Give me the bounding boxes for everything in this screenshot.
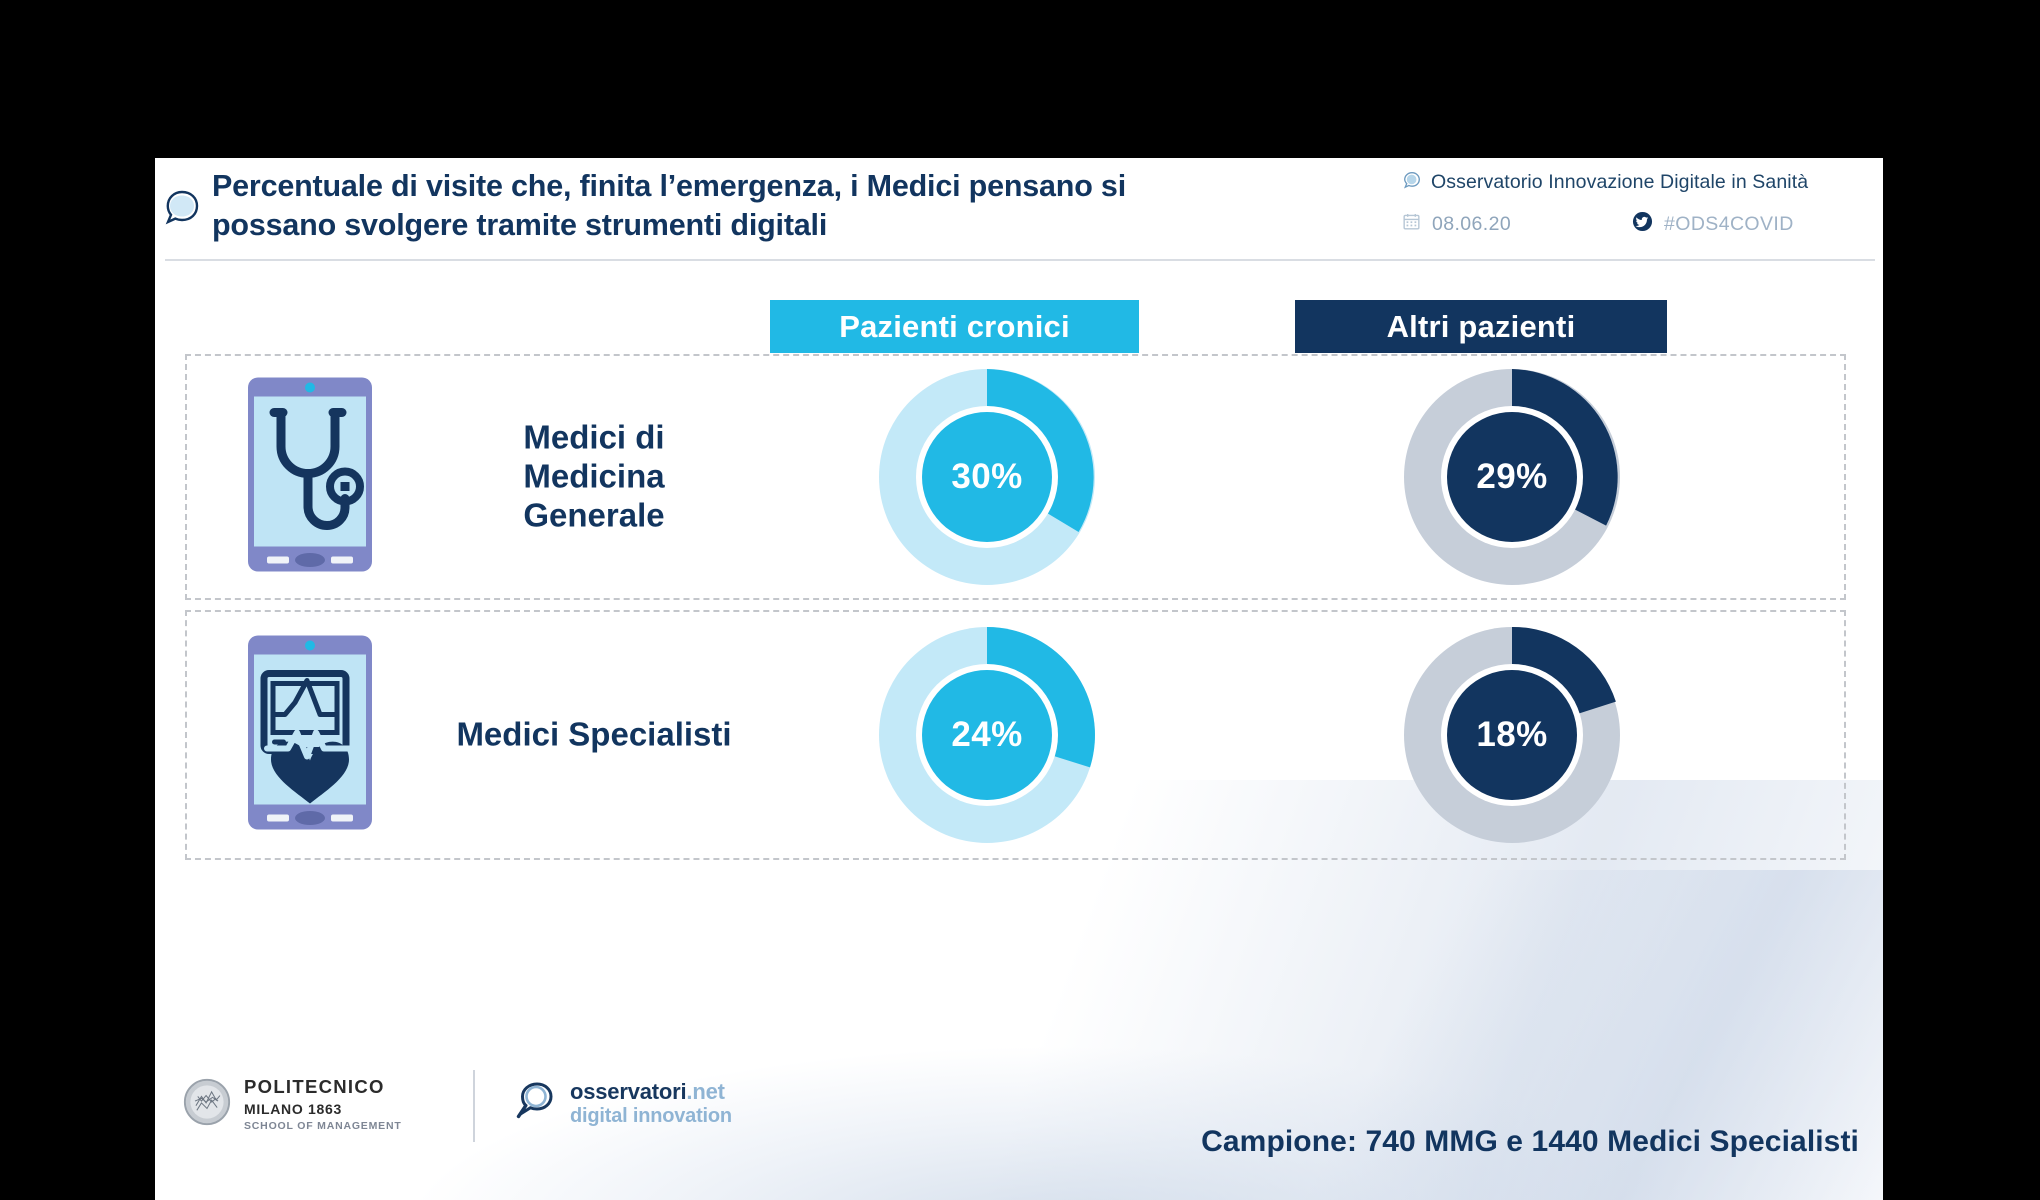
speech-bubble-icon — [1402, 170, 1422, 195]
hashtag-group: #ODS4COVID — [1632, 211, 1794, 237]
column-header-altri-pazienti: Altri pazienti — [1295, 300, 1667, 353]
magnifier-bubble-icon — [513, 1080, 559, 1127]
header-meta: Osservatorio Innovazione Digitale in San… — [1395, 170, 1865, 237]
osservatori-tld: .net — [686, 1079, 724, 1104]
observatory-label: Osservatorio Innovazione Digitale in San… — [1431, 171, 1808, 194]
donut-chart-altri-specialisti: 18% — [1400, 623, 1624, 847]
row-label: Medici Specialisti — [449, 716, 739, 755]
osservatori-name: osservatori — [570, 1079, 686, 1104]
tablet-stethoscope-icon — [245, 375, 375, 580]
donut-value-label: 29% — [1400, 365, 1624, 589]
slide-footer: POLITECNICO MILANO 1863 SCHOOL OF MANAGE… — [155, 1060, 1883, 1200]
sample-caption: Campione: 740 MMG e 1440 Medici Speciali… — [1201, 1125, 1859, 1159]
observatory-row: Osservatorio Innovazione Digitale in San… — [1402, 170, 1865, 195]
donut-chart-cronici-mmg: 30% — [875, 365, 1099, 589]
row-label: Medici di Medicina Generale — [449, 419, 739, 536]
politecnico-line3: SCHOOL OF MANAGEMENT — [244, 1121, 402, 1132]
column-header-pazienti-cronici: Pazienti cronici — [770, 300, 1139, 353]
osservatori-line1: osservatori.net — [570, 1080, 732, 1103]
donut-chart-altri-mmg: 29% — [1400, 365, 1624, 589]
tablet-heart-ecg-icon — [245, 633, 375, 838]
twitter-bird-icon — [1632, 211, 1653, 237]
footer-divider — [473, 1070, 475, 1142]
speech-bubble-icon — [160, 185, 204, 229]
donut-value-label: 24% — [875, 623, 1099, 847]
screenshot-stage: Percentuale di visite che, finita l’emer… — [0, 0, 2040, 1200]
date-label: 08.06.20 — [1432, 213, 1511, 236]
slide-header: Percentuale di visite che, finita l’emer… — [155, 158, 1883, 259]
slide: Percentuale di visite che, finita l’emer… — [155, 158, 1883, 1200]
politecnico-line1: POLITECNICO — [244, 1078, 402, 1097]
donut-value-label: 30% — [875, 365, 1099, 589]
donut-value-label: 18% — [1400, 623, 1624, 847]
osservatori-logo: osservatori.net digital innovation — [513, 1080, 732, 1127]
date-group: 08.06.20 — [1402, 212, 1632, 236]
table-row: Medici di Medicina Generale 30% 29% — [185, 354, 1846, 600]
osservatori-tagline: digital innovation — [570, 1106, 732, 1127]
column-header-label: Pazienti cronici — [839, 309, 1070, 345]
page-title: Percentuale di visite che, finita l’emer… — [212, 167, 1222, 244]
politecnico-crest-icon — [183, 1078, 231, 1131]
osservatori-wordmark: osservatori.net digital innovation — [570, 1080, 732, 1126]
donut-chart-cronici-specialisti: 24% — [875, 623, 1099, 847]
date-hashtag-row: 08.06.20 #ODS4COVID — [1402, 211, 1865, 237]
table-row: Medici Specialisti 24% 18% — [185, 610, 1846, 860]
calendar-icon — [1402, 212, 1421, 236]
politecnico-line2: MILANO 1863 — [244, 1102, 402, 1116]
politecnico-logo: POLITECNICO MILANO 1863 SCHOOL OF MANAGE… — [183, 1078, 402, 1131]
header-divider — [165, 259, 1875, 261]
politecnico-wordmark: POLITECNICO MILANO 1863 SCHOOL OF MANAGE… — [244, 1078, 402, 1131]
column-header-label: Altri pazienti — [1387, 309, 1576, 345]
hashtag-label: #ODS4COVID — [1664, 213, 1794, 236]
